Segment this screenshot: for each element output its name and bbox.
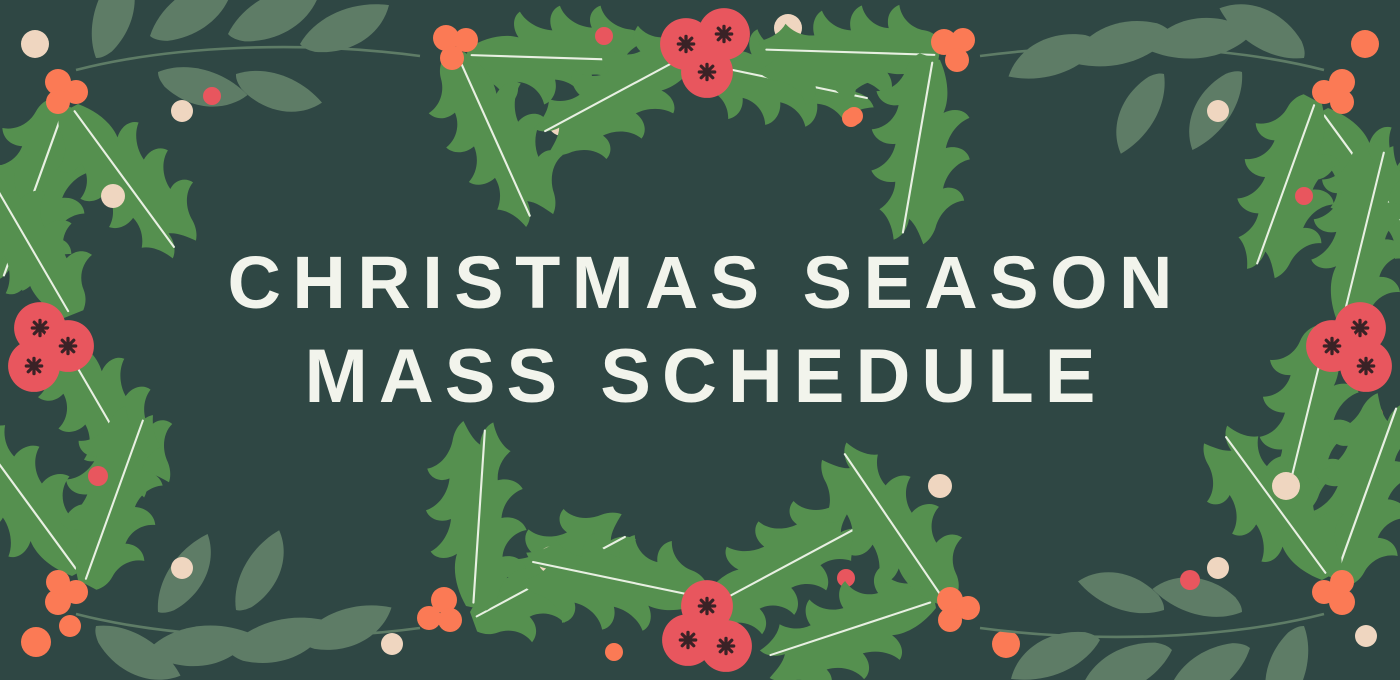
decor-cluster-top-left-mid bbox=[415, 0, 657, 244]
decor-cluster-top-right-mid bbox=[749, 0, 1003, 257]
decor-cluster-bottom-center bbox=[508, 481, 887, 672]
title-line-1: CHRISTMAS SEASON bbox=[0, 236, 1400, 330]
decor-cluster-top-center bbox=[513, 0, 892, 179]
decor-cluster-bottom-left bbox=[0, 384, 420, 680]
decor-cluster-bottom-right-mid bbox=[749, 415, 1020, 680]
christmas-banner: CHRISTMAS SEASON MASS SCHEDULE bbox=[0, 0, 1400, 680]
title-line-2: MASS SCHEDULE bbox=[0, 330, 1400, 424]
decor-cluster-bottom-left-mid bbox=[401, 411, 657, 661]
banner-title: CHRISTMAS SEASON MASS SCHEDULE bbox=[0, 236, 1400, 424]
